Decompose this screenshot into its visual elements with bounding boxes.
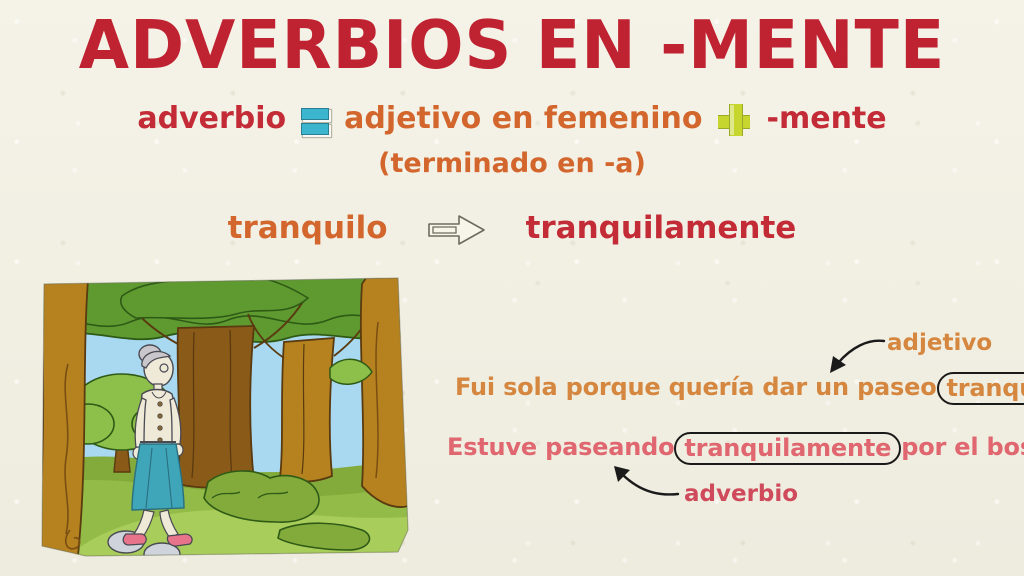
page-title: ADVERBIOS EN -MENTE — [15, 6, 1008, 84]
forest-walk-illustration — [26, 272, 418, 562]
formula-term-adverbio: adverbio — [137, 101, 286, 136]
annotation-label-adverbio: adverbio — [684, 481, 798, 507]
right-arrow-icon — [426, 213, 488, 247]
highlight-tranquilamente: tranquilamente — [674, 432, 901, 465]
equals-icon — [300, 105, 330, 135]
annotation-label-adjetivo: adjetivo — [887, 330, 992, 356]
sentence2-after: por el bosque — [901, 433, 1024, 461]
formula-term-mente: -mente — [767, 101, 887, 136]
sentence-adjective: Fui sola porque quería dar un paseotranq… — [455, 371, 1024, 404]
sentence-adverb: Estuve paseandotranquilamentepor el bosq… — [447, 431, 1024, 464]
example-adjective: tranquilo — [228, 210, 388, 246]
highlight-tranquilo: tranquilo — [937, 372, 1024, 405]
plus-icon — [717, 103, 753, 139]
example-row: tranquilo tranquilamente — [0, 210, 1024, 246]
curved-arrow-up-left-icon — [596, 462, 682, 506]
example-adverb: tranquilamente — [526, 210, 797, 246]
slide-canvas: ADVERBIOS EN -MENTE adverbio adjetivo en… — [0, 0, 1024, 576]
formula-term-adjetivo-femenino: adjetivo en femenino — [344, 101, 702, 136]
illustration-svg — [26, 272, 418, 562]
formula-row: adverbio adjetivo en femenino -mente — [0, 100, 1024, 136]
sentence2-before: Estuve paseando — [447, 433, 674, 461]
formula-note: (terminado en -a) — [0, 148, 1024, 179]
curved-arrow-down-left-icon — [818, 333, 888, 381]
